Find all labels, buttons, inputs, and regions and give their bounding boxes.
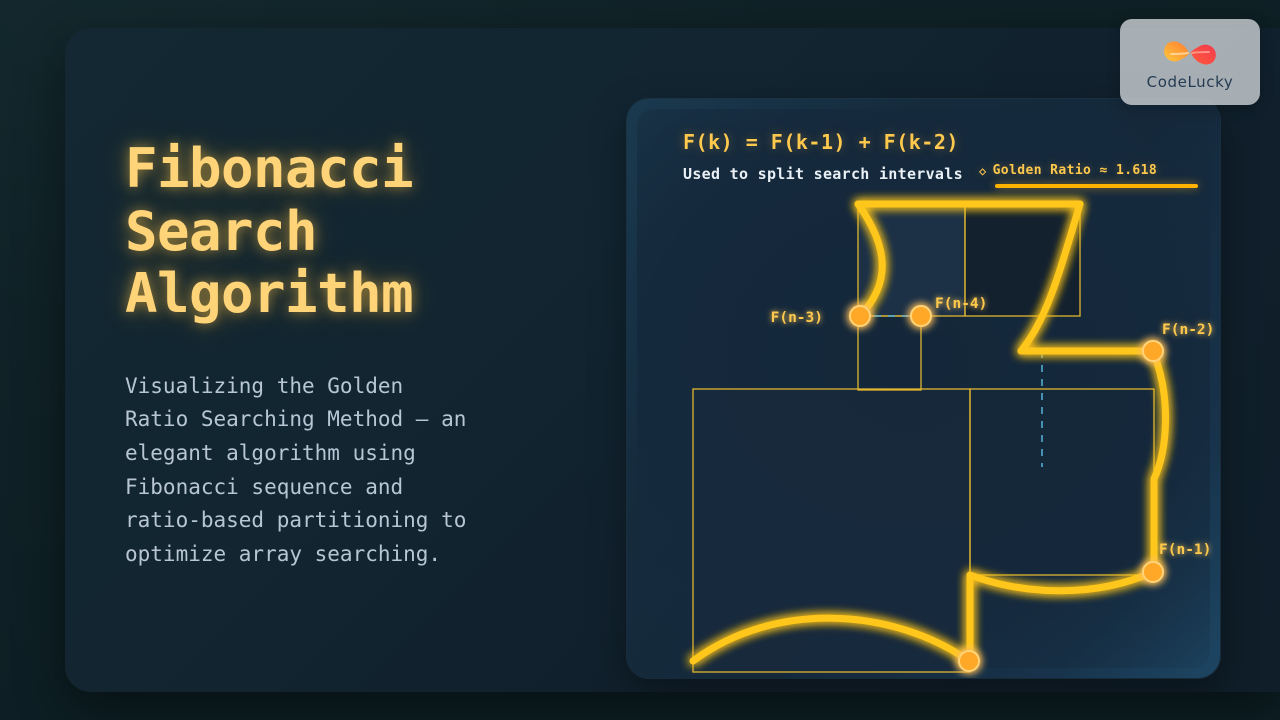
screen-root: Fibonacci Search Algorithm Visualizing t… [0,0,1280,720]
square-fill-large [693,389,970,672]
node-f-n-3[interactable] [850,306,870,326]
formula-note-row: Used to split search intervals ◇ Golden … [683,163,1213,184]
node-f-n-4[interactable] [911,306,931,326]
node-f-n-2[interactable] [1143,341,1163,361]
infinity-loop-icon [1159,34,1221,72]
formula-note: Used to split search intervals [683,165,963,183]
node-origin[interactable] [959,651,979,671]
node-f-n-1[interactable] [1143,562,1163,582]
page-subtitle: Visualizing the Golden Ratio Searching M… [125,370,595,572]
fibonacci-formula: F(k) = F(k-1) + F(k-2) [683,130,1213,154]
golden-ratio-badge-content: ◇ Golden Ratio ≈ 1.618 [979,163,1157,178]
badge-underline [995,184,1198,188]
label-f-n-1: F(n-1) [1159,542,1211,558]
label-f-n-4: F(n-4) [935,296,987,312]
brand-name: CodeLucky [1147,73,1234,91]
rect-outline-mid-left [858,316,921,390]
page-title: Fibonacci Search Algorithm [125,138,595,326]
spiral-arc-right-upper [1153,351,1166,479]
diamond-icon: ◇ [979,164,987,178]
brand-logo[interactable]: CodeLucky [1120,19,1260,105]
formula-header: F(k) = F(k-1) + F(k-2) Used to split sea… [683,130,1213,184]
visualization-panel: F(n-3) F(n-4) F(n-2) F(n-1) F(k) = F(k-1… [627,99,1220,678]
golden-ratio-label: Golden Ratio ≈ 1.618 [993,163,1158,178]
slide-card: Fibonacci Search Algorithm Visualizing t… [65,28,1280,692]
label-f-n-3: F(n-3) [771,310,823,326]
square-fill-right [970,389,1154,575]
golden-ratio-badge[interactable]: ◇ Golden Ratio ≈ 1.618 [979,163,1157,184]
left-content-column: Fibonacci Search Algorithm Visualizing t… [125,138,595,592]
label-f-n-2: F(n-2) [1162,322,1214,338]
